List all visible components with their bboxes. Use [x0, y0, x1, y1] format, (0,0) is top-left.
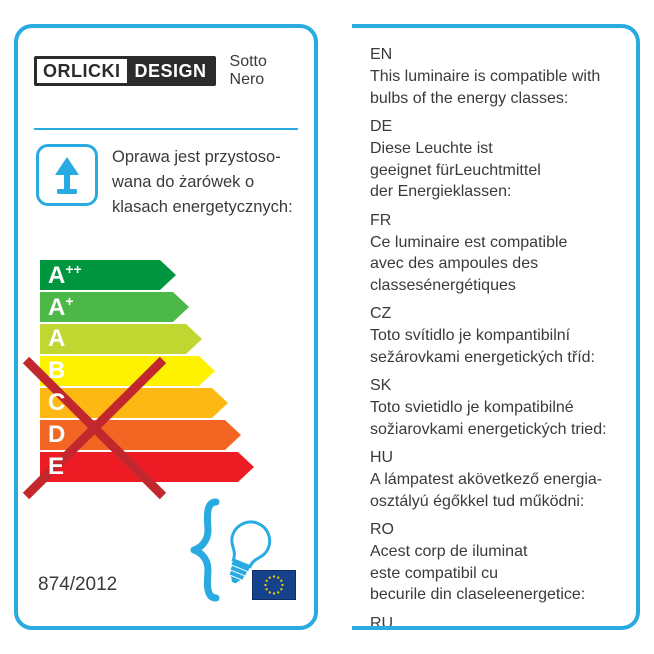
language-text: This luminaire is compatible with bulbs …: [370, 66, 622, 109]
energy-class-label: A+: [40, 294, 74, 320]
language-block: ENThis luminaire is compatible with bulb…: [370, 44, 622, 109]
energy-class-bar: A: [40, 324, 186, 354]
energy-class-arrow: [173, 292, 189, 322]
language-code: HU: [370, 447, 622, 469]
lamp-notice-text: Oprawa jest przystoso- wana do żarówek o…: [112, 144, 302, 220]
energy-label-sheet: ORLICKI DESIGN Sotto Nero Oprawa jest pr…: [0, 0, 654, 654]
energy-class-label: A++: [40, 262, 82, 288]
energy-class-arrow: [160, 260, 176, 290]
language-block: SKToto svietidlo je kompatibilné sožiaro…: [370, 375, 622, 440]
energy-class-label: A: [40, 327, 65, 351]
language-code: FR: [370, 210, 622, 232]
energy-class-bar: A+: [40, 292, 173, 322]
eu-star-icon: [280, 588, 282, 590]
language-block: HUA lámpatest akövetkező energia- osztál…: [370, 447, 622, 512]
language-block: ROAcest corp de iluminat este compatibil…: [370, 519, 622, 606]
eu-star-icon: [280, 580, 282, 582]
language-code: EN: [370, 44, 622, 66]
eu-flag: [252, 570, 296, 600]
energy-class-chart: A++A+ABCDE: [18, 260, 322, 510]
energy-class-arrow: [238, 452, 254, 482]
eu-star-icon: [269, 591, 271, 593]
language-block: FRCe luminaire est compatible avec des a…: [370, 210, 622, 297]
language-text: Acest corp de iluminat este compatibil c…: [370, 541, 622, 606]
logo-design-text: DESIGN: [127, 59, 213, 83]
language-text: A lámpatest akövetkező energia- osztályú…: [370, 469, 622, 512]
energy-class-label: D: [40, 423, 65, 447]
footer: 874/2012: [38, 570, 296, 600]
energy-class-arrow: [186, 324, 202, 354]
language-block: CZToto svítidlo je kompantibilní sežárov…: [370, 303, 622, 368]
language-code: SK: [370, 375, 622, 397]
logo-orlicki-text: ORLICKI: [37, 59, 127, 83]
orlicki-design-logo: ORLICKI DESIGN: [34, 56, 216, 86]
energy-class-bar: E: [40, 452, 238, 482]
eu-star-icon: [265, 588, 267, 590]
eu-star-icon: [281, 584, 283, 586]
energy-class-bar: A++: [40, 260, 160, 290]
energy-class-label: B: [40, 359, 65, 383]
eu-star-icon: [277, 591, 279, 593]
energy-class-bar: D: [40, 420, 225, 450]
brand-header: ORLICKI DESIGN Sotto Nero: [34, 54, 298, 88]
header-divider: [34, 128, 298, 130]
energy-class-label: E: [40, 455, 64, 479]
eu-star-icon: [277, 576, 279, 578]
product-name: Sotto Nero: [230, 53, 298, 89]
energy-class-plus: +: [65, 293, 73, 309]
energy-class-bar: B: [40, 356, 199, 386]
eu-star-icon: [273, 592, 275, 594]
language-text: Diese Leuchte ist geeignet fürLeuchtmitt…: [370, 138, 622, 203]
eu-star-icon: [265, 580, 267, 582]
energy-class-label: C: [40, 391, 65, 415]
language-block: DEDiese Leuchte ist geeignet fürLeuchtmi…: [370, 116, 622, 203]
eu-star-icon: [264, 584, 266, 586]
language-code: RU: [370, 613, 622, 631]
language-code: CZ: [370, 303, 622, 325]
language-block: RUЭтот светильник совместим с лампочки э…: [370, 613, 622, 631]
language-code: DE: [370, 116, 622, 138]
eu-star-icon: [273, 575, 275, 577]
language-code: RO: [370, 519, 622, 541]
energy-class-arrow: [199, 356, 215, 386]
right-panel-translations: ENThis luminaire is compatible with bulb…: [352, 24, 640, 630]
energy-class-plus: ++: [65, 261, 81, 277]
left-panel: ORLICKI DESIGN Sotto Nero Oprawa jest pr…: [14, 24, 318, 630]
energy-class-arrow: [225, 420, 241, 450]
language-text: Toto svítidlo je kompantibilní sežárovka…: [370, 325, 622, 368]
language-text: Toto svietidlo je kompatibilné sožiarovk…: [370, 397, 622, 440]
language-text: Ce luminaire est compatible avec des amp…: [370, 232, 622, 297]
lamp-notice: Oprawa jest przystoso- wana do żarówek o…: [36, 144, 302, 220]
energy-class-arrow: [212, 388, 228, 418]
energy-class-bar: C: [40, 388, 212, 418]
regulation-number: 874/2012: [38, 574, 117, 596]
table-lamp-icon: [36, 144, 98, 206]
eu-star-icon: [269, 576, 271, 578]
